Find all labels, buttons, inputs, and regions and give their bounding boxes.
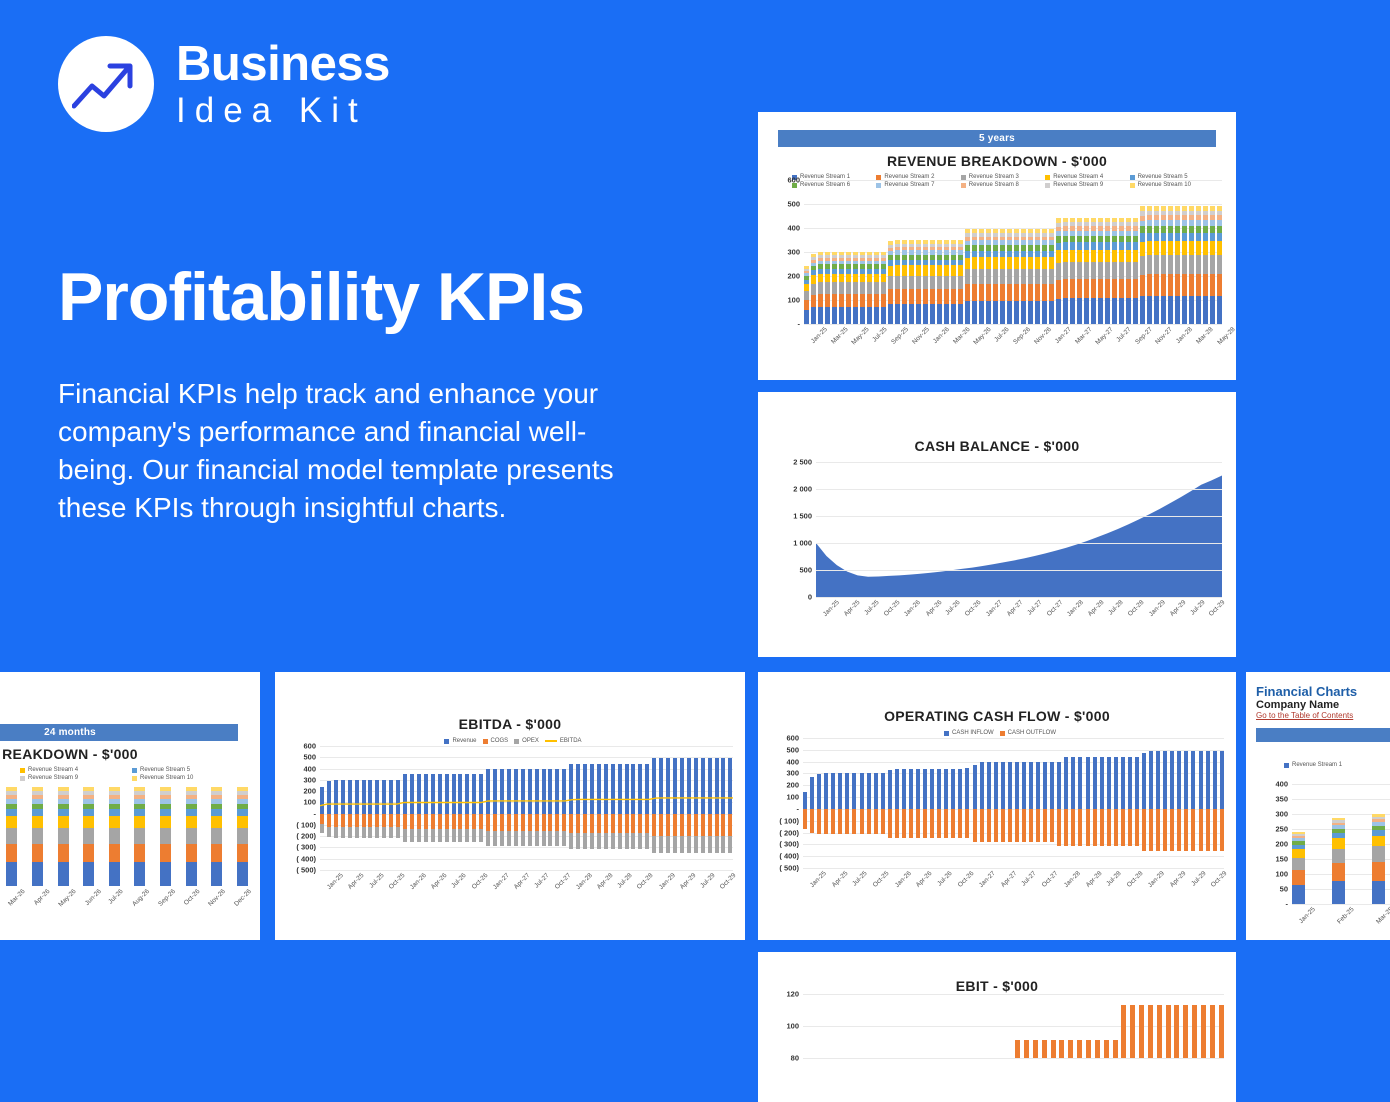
bar-segment — [1135, 757, 1139, 809]
bar-segment — [237, 862, 248, 886]
bar — [1210, 1005, 1215, 1058]
bar-segment — [1206, 809, 1210, 851]
legend-item: Revenue Stream 4 — [14, 767, 126, 773]
x-axis-tick: Oct-29 — [719, 872, 738, 891]
bar-segment — [1028, 284, 1033, 301]
ocf-title: OPERATING CASH FLOW - $'000 — [766, 708, 1228, 724]
bar-segment — [1022, 762, 1026, 809]
bar-segment — [160, 844, 171, 862]
bar-segment — [867, 282, 872, 294]
bar-segment — [1114, 809, 1118, 846]
bar — [1148, 1005, 1153, 1058]
bar-segment — [944, 809, 948, 838]
bar-segment — [1056, 250, 1061, 263]
bar-segment — [1175, 233, 1180, 241]
x-axis-tick: Jan-25 — [1298, 906, 1317, 925]
bar-column — [1107, 738, 1111, 868]
bar-segment — [83, 844, 94, 862]
x-axis-tick: Jan-26 — [409, 872, 428, 891]
bar-segment — [1203, 274, 1208, 295]
stacked-bar — [1063, 180, 1068, 324]
y-axis-tick: 120 — [786, 990, 799, 999]
y-axis-tick: 200 — [303, 787, 316, 796]
legend-swatch-icon — [876, 175, 881, 180]
bar-segment — [845, 809, 849, 834]
bar-segment — [965, 258, 970, 269]
bar-segment — [1182, 274, 1187, 295]
bar-segment — [1036, 809, 1040, 842]
bar-segment — [160, 828, 171, 844]
bar-segment — [1142, 753, 1146, 809]
bar — [1121, 1005, 1126, 1058]
bar-segment — [109, 816, 120, 828]
legend-label: CASH INFLOW — [952, 730, 994, 736]
legend-item: CASH INFLOW — [938, 730, 994, 736]
bar-segment — [909, 304, 914, 324]
bar — [1059, 1040, 1064, 1058]
page-title: Profitability KPIs — [58, 262, 718, 333]
stacked-bar — [1332, 784, 1345, 904]
bar-segment — [810, 777, 814, 809]
bar-segment — [134, 816, 145, 828]
bar-segment — [867, 307, 872, 324]
bar-segment — [186, 809, 197, 816]
bar-column — [881, 738, 885, 868]
stacked-bar — [979, 180, 984, 324]
bar-segment — [930, 289, 935, 304]
bar-segment — [1000, 301, 1005, 324]
y-axis-tick: 1 500 — [793, 512, 812, 521]
revenue-x-axis: Jan-25Mar-25May-25Jul-25Sep-25Nov-25Jan-… — [804, 324, 1222, 333]
stacked-bar — [1070, 180, 1075, 324]
bar-segment — [993, 284, 998, 301]
bar — [1192, 1005, 1197, 1058]
bar-segment — [804, 300, 809, 310]
bar-segment — [1063, 298, 1068, 323]
y-axis-tick: - — [798, 320, 801, 329]
bar-segment — [944, 769, 948, 809]
card-operating-cash-flow[interactable]: OPERATING CASH FLOW - $'000 CASH INFLOWC… — [758, 672, 1236, 940]
bar-segment — [881, 294, 886, 307]
gridline — [816, 543, 1222, 544]
bar-segment — [958, 289, 963, 304]
x-axis-tick: Jan-28 — [1066, 599, 1085, 618]
bar-segment — [1112, 242, 1117, 249]
bar-segment — [134, 809, 145, 816]
bar-segment — [965, 284, 970, 301]
bar-segment — [1161, 226, 1166, 233]
bar-segment — [831, 809, 835, 834]
bar-segment — [853, 282, 858, 294]
bar-segment — [1007, 251, 1012, 258]
bar-column — [895, 738, 899, 868]
bar-segment — [817, 774, 821, 809]
bar-segment — [993, 251, 998, 258]
legend-swatch-icon — [545, 740, 557, 742]
bar-segment — [810, 809, 814, 833]
bar-segment — [1093, 757, 1097, 809]
bar — [1033, 1040, 1038, 1058]
x-axis-tick: Feb-25 — [1336, 906, 1356, 926]
bar-column — [1008, 738, 1012, 868]
bar-segment — [895, 276, 900, 289]
bar — [1166, 1005, 1171, 1058]
bar-segment — [811, 284, 816, 295]
bar-column — [838, 738, 842, 868]
bar-segment — [1112, 250, 1117, 263]
bar-segment — [1057, 809, 1061, 846]
bar-segment — [1035, 301, 1040, 324]
bar-segment — [211, 816, 222, 828]
bar-segment — [888, 770, 892, 809]
bar-segment — [1126, 279, 1131, 298]
bar-segment — [1021, 257, 1026, 268]
bar-column — [1086, 738, 1090, 868]
bar-segment — [980, 762, 984, 809]
stacked-bar — [6, 780, 17, 886]
bar-segment — [923, 265, 928, 275]
card-cash-balance[interactable]: CASH BALANCE - $'000 Jan-25Apr-25Jul-25O… — [758, 392, 1236, 657]
bar-segment — [972, 257, 977, 268]
x-axis-tick: Jul-27 — [1026, 599, 1043, 616]
card-revenue-breakdown-24m[interactable]: 24 months REAKDOWN - $'000 Revenue Strea… — [0, 672, 260, 940]
y-axis-tick: 200 — [786, 781, 799, 790]
bar-segment — [1196, 226, 1201, 233]
bar-segment — [1121, 757, 1125, 809]
y-axis-tick: 100 — [786, 1022, 799, 1031]
bar-segment — [1135, 809, 1139, 846]
x-axis-tick: Apr-26 — [32, 888, 51, 907]
bar-segment — [958, 304, 963, 324]
legend-label: COGS — [491, 738, 509, 744]
x-axis-tick: Jan-26 — [893, 870, 912, 889]
bar-segment — [1175, 226, 1180, 233]
legend-item: EBITDA — [539, 738, 582, 744]
bar-segment — [1064, 757, 1068, 809]
x-axis-tick: May-25 — [851, 326, 871, 346]
bar-segment — [1182, 255, 1187, 274]
bar-segment — [951, 265, 956, 275]
stacked-bar — [1372, 784, 1385, 904]
bar-segment — [1112, 298, 1117, 323]
bar-segment — [1133, 298, 1138, 323]
bar-segment — [1292, 885, 1305, 904]
stacked-bar — [211, 780, 222, 886]
card-financial-charts[interactable]: Financial Charts Company Name Go to the … — [1246, 672, 1390, 940]
bar-segment — [902, 809, 906, 838]
bar-segment — [1056, 299, 1061, 324]
bar-segment — [1191, 751, 1195, 809]
bar-segment — [916, 265, 921, 275]
bar-segment — [923, 276, 928, 289]
stacked-bar — [237, 780, 248, 886]
bar-segment — [6, 844, 17, 862]
x-axis-tick: Oct-26 — [182, 888, 201, 907]
bar-segment — [937, 289, 942, 304]
bar-segment — [874, 294, 879, 307]
stacked-bar — [1000, 180, 1005, 324]
gridline — [816, 516, 1222, 517]
y-axis-tick: 500 — [787, 200, 800, 209]
x-axis-tick: Jan-26 — [932, 326, 951, 345]
bar-column — [1022, 738, 1026, 868]
y-axis-tick: 400 — [303, 764, 316, 773]
bar-segment — [83, 862, 94, 886]
bar-segment — [1049, 269, 1054, 284]
bar-segment — [1220, 809, 1224, 851]
bar-segment — [1112, 279, 1117, 298]
bar-column — [923, 738, 927, 868]
stacked-bar — [839, 180, 844, 324]
bar — [1157, 1005, 1162, 1058]
card-ebitda[interactable]: EBITDA - $'000 RevenueCOGSOPEXEBITDA Jan… — [275, 672, 745, 940]
bar-segment — [930, 769, 934, 809]
bar — [1024, 1040, 1029, 1058]
card-ebit[interactable]: EBIT - $'000 12010080 — [758, 952, 1236, 1102]
bar-segment — [186, 862, 197, 886]
bar-segment — [1189, 226, 1194, 233]
stacked-bar — [1203, 180, 1208, 324]
bar-segment — [1210, 241, 1215, 255]
x-axis-tick: Nov-26 — [207, 888, 227, 908]
bar-column — [987, 738, 991, 868]
bar-segment — [1156, 751, 1160, 809]
bar-segment — [1189, 296, 1194, 324]
bar-column — [1029, 738, 1033, 868]
y-axis-tick: 50 — [1280, 885, 1288, 894]
bar-segment — [979, 284, 984, 301]
bar — [1015, 1040, 1020, 1058]
bar-segment — [1077, 242, 1082, 249]
bar-column — [1128, 738, 1132, 868]
bar-column — [1177, 738, 1181, 868]
bar-segment — [237, 828, 248, 844]
stacked-bar — [1175, 180, 1180, 324]
hero-section: Business Idea Kit Profitability KPIs Fin… — [58, 36, 718, 527]
bar-segment — [1372, 881, 1385, 904]
x-axis-tick: Oct-27 — [1045, 599, 1064, 618]
bar-segment — [846, 294, 851, 307]
bar-segment — [818, 307, 823, 324]
bar-segment — [1184, 751, 1188, 809]
bar-segment — [803, 792, 807, 809]
bar-segment — [1056, 263, 1061, 280]
bar-column — [1001, 738, 1005, 868]
gridline — [803, 868, 1224, 869]
bar-column — [1191, 738, 1195, 868]
bar-segment — [1196, 255, 1201, 274]
bar-segment — [6, 816, 17, 828]
legend-item: CASH OUTFLOW — [994, 730, 1056, 736]
bar-segment — [986, 251, 991, 258]
gridline — [1292, 904, 1390, 905]
bar-segment — [1035, 257, 1040, 268]
bar-segment — [1084, 250, 1089, 263]
ocf-legend: CASH INFLOWCASH OUTFLOW — [766, 730, 1228, 736]
y-axis-tick: 600 — [786, 734, 799, 743]
x-axis-tick: Oct-25 — [388, 872, 407, 891]
x-axis-tick: Sep-26 — [157, 888, 177, 908]
bar-segment — [1056, 280, 1061, 299]
bar-segment — [846, 274, 851, 283]
stacked-bar — [1168, 180, 1173, 324]
bar-column — [1093, 738, 1097, 868]
bar-segment — [1154, 241, 1159, 255]
x-axis-tick: Apr-28 — [1084, 870, 1103, 889]
bar-column — [1078, 738, 1082, 868]
bar-segment — [951, 809, 955, 838]
bar-segment — [1014, 251, 1019, 258]
bar-segment — [1035, 251, 1040, 258]
y-axis-tick: 100 — [787, 296, 800, 305]
bar-segment — [817, 809, 821, 834]
x-axis-tick: Sep-27 — [1134, 326, 1154, 346]
bar-segment — [839, 282, 844, 294]
x-axis-tick: Jan-27 — [1053, 326, 1072, 345]
ebitda-x-axis: Jan-25Apr-25Jul-25Oct-25Jan-26Apr-26Jul-… — [320, 870, 733, 879]
bar-segment — [951, 276, 956, 289]
bar-segment — [1029, 809, 1033, 842]
bar-segment — [1028, 301, 1033, 324]
bar-segment — [1210, 296, 1215, 324]
bar-segment — [1156, 809, 1160, 851]
x-axis-tick: Apr-27 — [1000, 870, 1019, 889]
bar-segment — [1121, 809, 1125, 846]
stacked-bar — [881, 180, 886, 324]
bar-segment — [1170, 809, 1174, 851]
bar-column — [1071, 738, 1075, 868]
bar-segment — [1105, 250, 1110, 263]
bar-segment — [874, 809, 878, 834]
bar-segment — [867, 294, 872, 307]
stacked-bar — [83, 780, 94, 886]
bar-segment — [860, 809, 864, 834]
gridline — [816, 462, 1222, 463]
bar-segment — [930, 265, 935, 275]
bar-segment — [1015, 762, 1019, 809]
bar-column — [831, 738, 835, 868]
bar-segment — [1049, 301, 1054, 324]
bar-segment — [993, 301, 998, 324]
bar — [1130, 1005, 1135, 1058]
x-axis-tick: Oct-28 — [1125, 870, 1144, 889]
bar-segment — [825, 282, 830, 294]
y-axis-tick: 2 500 — [793, 458, 812, 467]
y-axis-tick: ( 100) — [296, 820, 316, 829]
x-axis-tick: Oct-29 — [1208, 599, 1227, 618]
bar-column — [1121, 738, 1125, 868]
bar-segment — [58, 844, 69, 862]
bar-column — [867, 738, 871, 868]
y-axis-tick: 250 — [1275, 825, 1288, 834]
bar-segment — [1021, 301, 1026, 324]
bar-segment — [1084, 262, 1089, 279]
bar-segment — [803, 809, 807, 829]
x-axis-tick: Jan-25 — [822, 599, 841, 618]
stacked-bar — [1049, 180, 1054, 324]
bar-segment — [1070, 262, 1075, 279]
stacked-bar — [825, 180, 830, 324]
ebitda-plot-area: Jan-25Apr-25Jul-25Oct-25Jan-26Apr-26Jul-… — [320, 746, 733, 870]
bar-segment — [958, 265, 963, 275]
table-of-contents-link[interactable]: Go to the Table of Contents — [1256, 711, 1390, 720]
stacked-bar — [1056, 180, 1061, 324]
legend-swatch-icon — [20, 768, 25, 773]
bar-segment — [965, 809, 969, 838]
card-revenue-breakdown-5y[interactable]: 5 years REVENUE BREAKDOWN - $'000 Revenu… — [758, 112, 1236, 380]
bar-segment — [951, 289, 956, 304]
bar-segment — [993, 257, 998, 268]
bar-segment — [1007, 269, 1012, 284]
bar-segment — [1091, 262, 1096, 279]
bar-segment — [1154, 226, 1159, 233]
y-axis-tick: 100 — [786, 793, 799, 802]
bar-segment — [1372, 862, 1385, 881]
bar-segment — [1084, 242, 1089, 249]
stacked-bar — [1189, 180, 1194, 324]
bar — [1139, 1005, 1144, 1058]
stacked-bar — [1292, 784, 1305, 904]
bar-segment — [1128, 757, 1132, 809]
bar-segment — [1163, 809, 1167, 851]
x-axis-tick: May-26 — [973, 326, 993, 346]
bar-segment — [1217, 233, 1222, 241]
x-axis-tick: May-26 — [57, 888, 77, 908]
y-axis-tick: ( 200) — [779, 828, 799, 837]
bar-column — [944, 738, 948, 868]
bar-column — [1100, 738, 1104, 868]
bar-segment — [888, 289, 893, 304]
stacked-bar — [1119, 180, 1124, 324]
bar-column — [824, 738, 828, 868]
x-axis-tick: Oct-27 — [553, 872, 572, 891]
bar-column — [902, 738, 906, 868]
bar-segment — [867, 809, 871, 834]
page-description: Financial KPIs help track and enhance yo… — [58, 375, 658, 526]
x-axis-tick: May-28 — [1216, 326, 1236, 346]
bar-segment — [1161, 241, 1166, 255]
bar-segment — [1210, 226, 1215, 233]
stacked-bar — [916, 180, 921, 324]
bar-segment — [930, 809, 934, 838]
bar-column — [958, 738, 962, 868]
x-axis-tick: Jul-29 — [1189, 599, 1206, 616]
y-axis-tick: 300 — [303, 775, 316, 784]
bar-segment — [1050, 762, 1054, 809]
x-axis-tick: Apr-28 — [596, 872, 615, 891]
bar-segment — [1217, 274, 1222, 295]
bar-segment — [1001, 809, 1005, 842]
bar-segment — [895, 809, 899, 838]
bar-segment — [1100, 757, 1104, 809]
bar-segment — [1056, 243, 1061, 250]
y-axis-tick: ( 100) — [779, 816, 799, 825]
x-axis-tick: Oct-25 — [872, 870, 891, 889]
stacked-bar — [860, 180, 865, 324]
legend-swatch-icon — [961, 175, 966, 180]
stacked-bar — [1021, 180, 1026, 324]
financial-charts-company: Company Name — [1256, 699, 1390, 711]
bar-segment — [1196, 241, 1201, 255]
legend-label: EBITDA — [560, 738, 582, 744]
y-axis-tick: ( 300) — [296, 843, 316, 852]
bar-segment — [832, 274, 837, 283]
stacked-bar — [846, 180, 851, 324]
x-axis-tick: Apr-26 — [430, 872, 449, 891]
x-axis-tick: Oct-25 — [882, 599, 901, 618]
bar-segment — [895, 265, 900, 275]
bar-segment — [1182, 296, 1187, 324]
